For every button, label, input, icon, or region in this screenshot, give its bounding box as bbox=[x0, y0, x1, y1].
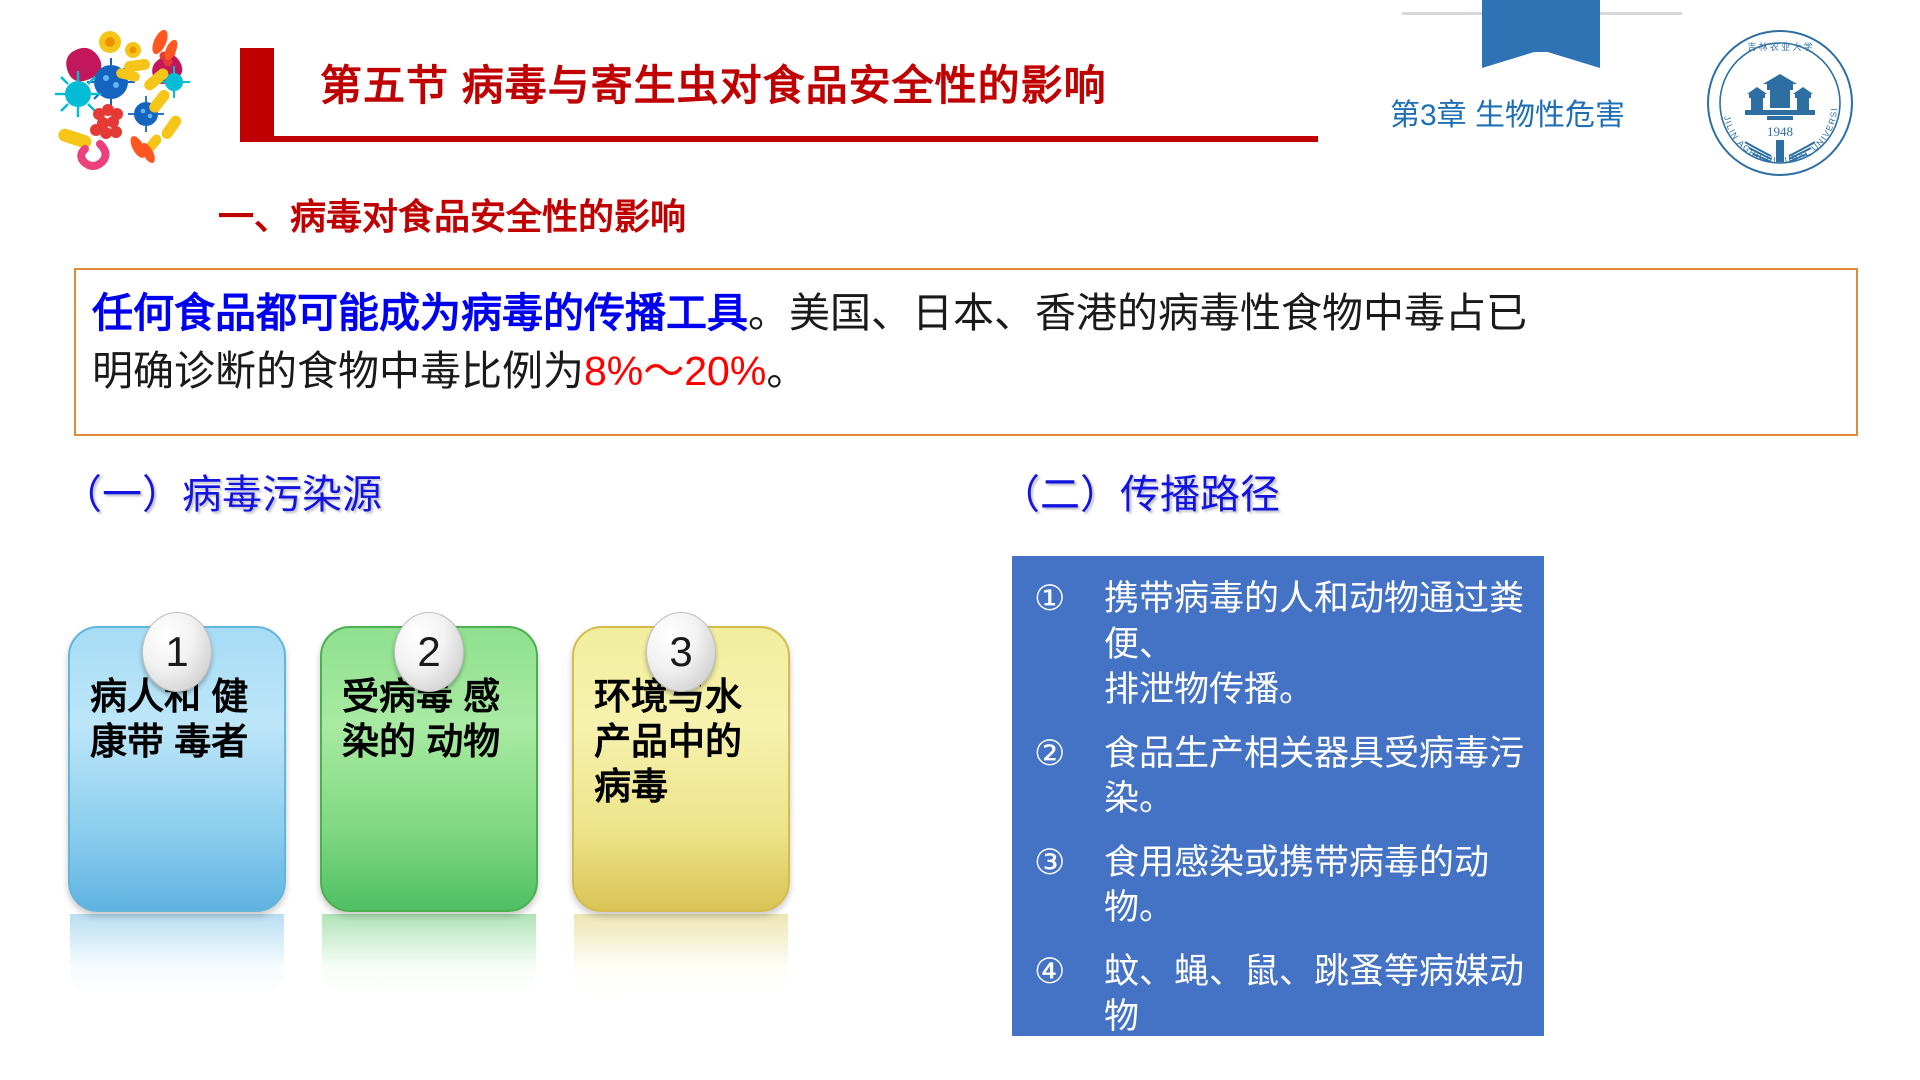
callout-line-1-rest: 。美国、日本、香港的病毒性食物中毒占已 bbox=[748, 290, 1527, 336]
list-item-text: 食品生产相关器具受病毒污染。 bbox=[1104, 731, 1534, 822]
seal-year: 1948 bbox=[1767, 124, 1793, 139]
list-item-marker: ③ bbox=[1034, 840, 1104, 886]
callout-line-2-pre: 明确诊断的食物中毒比例为 bbox=[92, 348, 584, 394]
source-card-1[interactable]: 病人和 健康带 毒者 1 bbox=[68, 612, 286, 912]
callout-line-1: 任何食品都可能成为病毒的传播工具。美国、日本、香港的病毒性食物中毒占已 bbox=[92, 284, 1836, 342]
card-reflection bbox=[70, 914, 284, 998]
svg-text:吉 林 农 业 大 学: 吉 林 农 业 大 学 bbox=[1747, 41, 1812, 52]
card-number-badge: 3 bbox=[646, 612, 716, 692]
card-number-badge: 2 bbox=[394, 612, 464, 692]
list-item-marker: ① bbox=[1034, 576, 1104, 622]
callout-percentage-red: 8%～20% bbox=[584, 348, 766, 394]
highlight-callout-box: 任何食品都可能成为病毒的传播工具。美国、日本、香港的病毒性食物中毒占已 明确诊断… bbox=[74, 268, 1858, 436]
subheading-virus-sources: （一）病毒污染源 bbox=[62, 462, 382, 520]
callout-line-2: 明确诊断的食物中毒比例为8%～20%。 bbox=[92, 342, 1836, 400]
list-item: ④ 蚊、蝇、鼠、跳蚤等病媒动物 传播病毒，污染食品。 bbox=[1034, 949, 1534, 1080]
page-title: 第五节 病毒与寄生虫对食品安全性的影响 bbox=[320, 52, 1320, 113]
card-number-badge: 1 bbox=[142, 612, 212, 692]
list-item-marker: ② bbox=[1034, 731, 1104, 777]
list-item-text: 蚊、蝇、鼠、跳蚤等病媒动物 传播病毒，污染食品。 bbox=[1104, 949, 1534, 1080]
source-card-2[interactable]: 受病毒 感染的 动物 2 bbox=[320, 612, 538, 912]
list-item: ② 食品生产相关器具受病毒污染。 bbox=[1034, 731, 1534, 822]
list-item-marker: ④ bbox=[1034, 949, 1104, 995]
transmission-routes-panel: ① 携带病毒的人和动物通过粪便、 排泄物传播。 ② 食品生产相关器具受病毒污染。… bbox=[1012, 556, 1544, 1036]
card-label: 环境与水 产品中的 病毒 bbox=[594, 674, 774, 809]
source-card-3[interactable]: 环境与水 产品中的 病毒 3 bbox=[572, 612, 790, 912]
slide-canvas: 第五节 病毒与寄生虫对食品安全性的影响 第3章 生物性危害 吉 林 农 业 大 … bbox=[0, 0, 1920, 1080]
virus-source-cards: 病人和 健康带 毒者 1 受病毒 感染的 动物 2 环境与水 产品中的 病毒 3 bbox=[68, 612, 828, 922]
card-reflection bbox=[322, 914, 536, 998]
university-seal-logo: 吉 林 农 业 大 学 1948 JILIN AGRICULTURAL UNIV… bbox=[1705, 28, 1855, 178]
list-item: ③ 食用感染或携带病毒的动物。 bbox=[1034, 840, 1534, 931]
callout-emphasis-blue: 任何食品都可能成为病毒的传播工具 bbox=[92, 290, 748, 336]
microbes-illustration bbox=[38, 22, 198, 172]
card-reflection bbox=[574, 914, 788, 998]
list-item-text: 携带病毒的人和动物通过粪便、 排泄物传播。 bbox=[1104, 576, 1534, 713]
chapter-label: 第3章 生物性危害 bbox=[1390, 90, 1625, 134]
subheading-transmission-routes: （二）传播路径 bbox=[1000, 462, 1280, 520]
title-accent-bar bbox=[240, 48, 274, 136]
list-item: ① 携带病毒的人和动物通过粪便、 排泄物传播。 bbox=[1034, 576, 1534, 713]
callout-line-2-post: 。 bbox=[766, 348, 807, 394]
section-heading: 一、病毒对食品安全性的影响 bbox=[218, 188, 686, 240]
title-underline bbox=[240, 136, 1318, 142]
chapter-tab-shape bbox=[1482, 0, 1600, 64]
list-item-text: 食用感染或携带病毒的动物。 bbox=[1104, 840, 1534, 931]
